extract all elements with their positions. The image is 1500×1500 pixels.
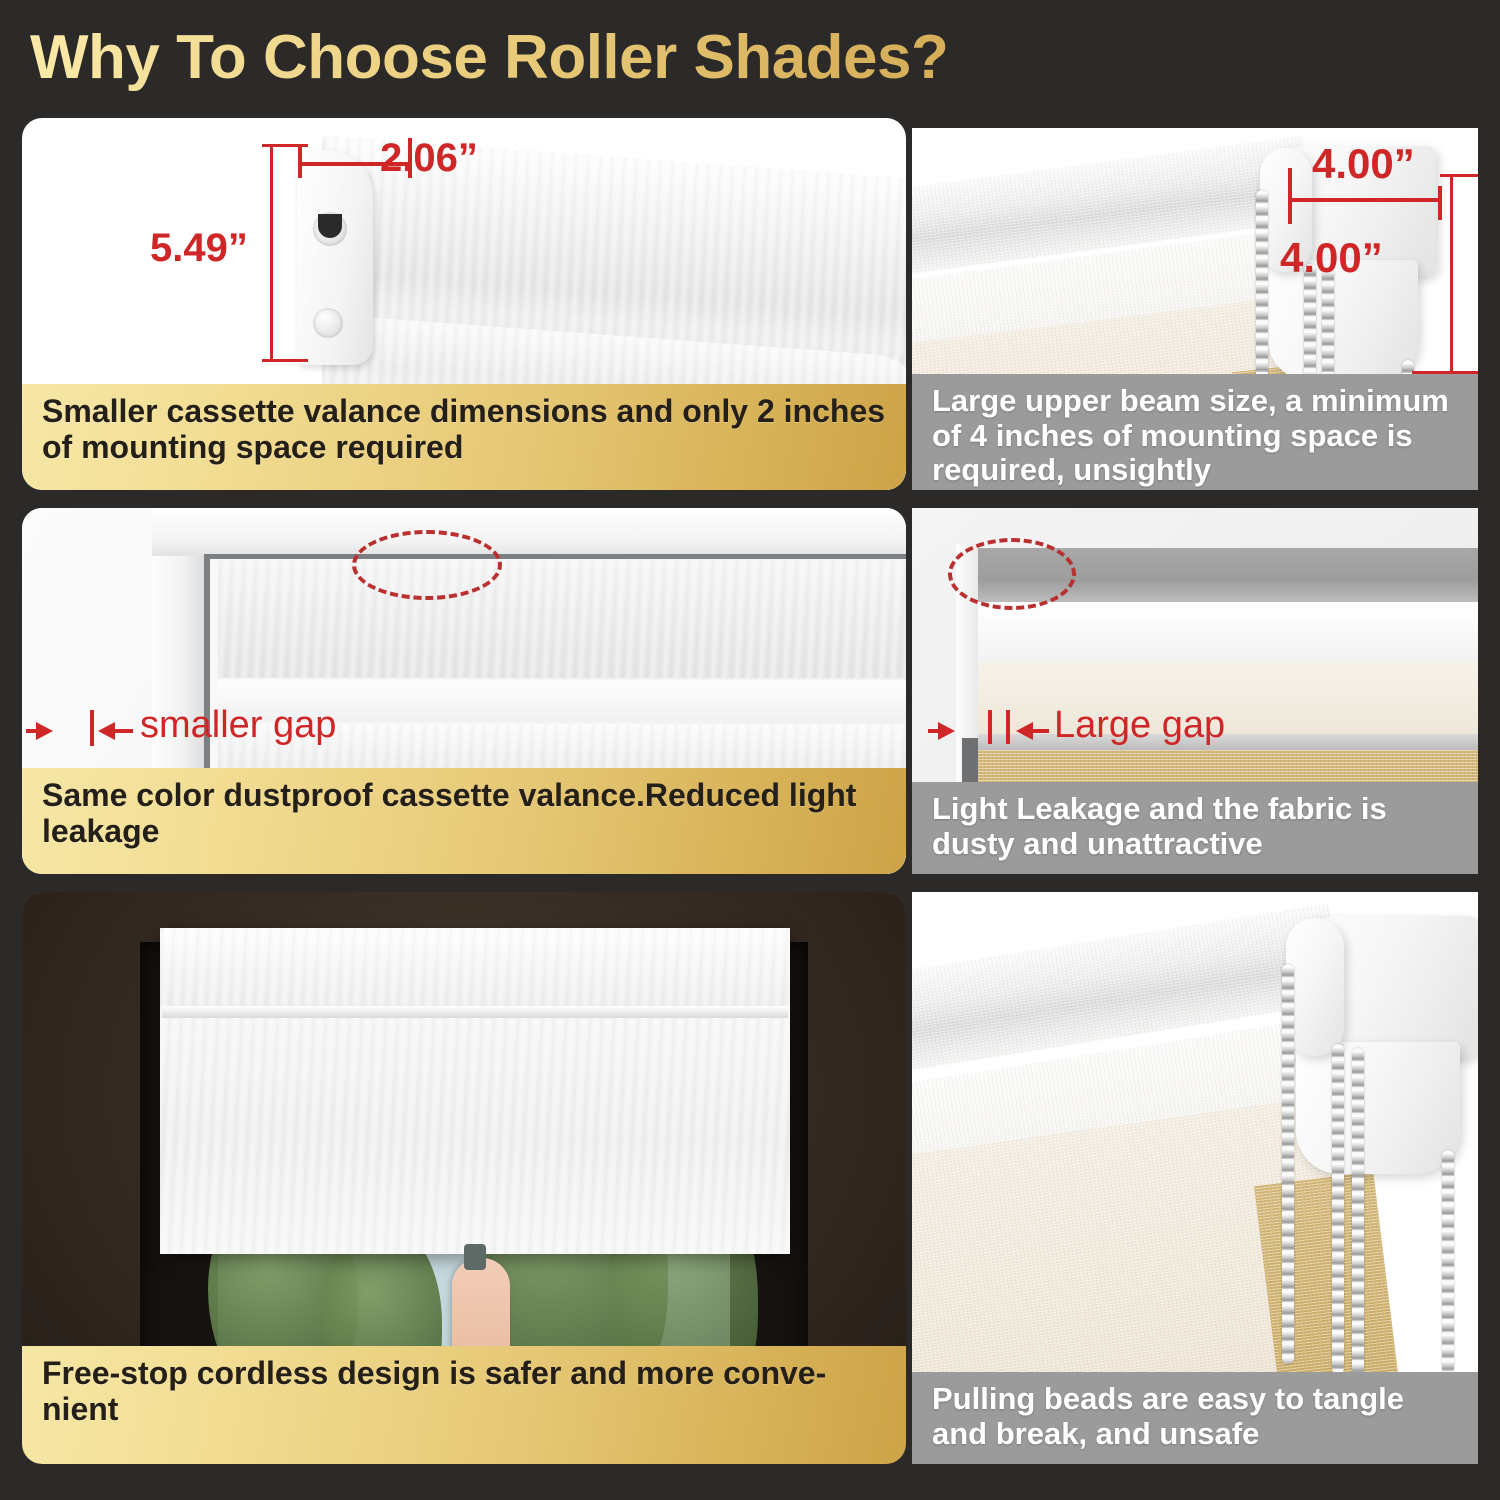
page-title: Why To Choose Roller Shades?: [30, 18, 1130, 98]
shade-pull-tab: [464, 1244, 486, 1270]
panel-1-caption: Smaller cassette valance dimensions and …: [22, 384, 906, 490]
gap-arrow-left: [1016, 722, 1033, 740]
panel-5-caption: Free-stop cordless design is safer and m…: [22, 1346, 906, 1464]
panel-3-caption: Same color dustproof cassette valance.Re…: [22, 768, 906, 874]
cassette-slot-icon: [318, 214, 342, 238]
panel-smaller-gap: smaller gap Same color dustproof cassett…: [22, 508, 906, 874]
gap-marker: [90, 710, 94, 746]
cassette-end-cap: [297, 150, 373, 365]
panel-cordless-design: Free-stop cordless design is safer and m…: [22, 892, 906, 1464]
panel-6-caption: Pulling beads are easy to tangle and bre…: [912, 1372, 1478, 1464]
beam-width-tick-left: [1288, 168, 1292, 224]
gap-arrow-right: [36, 722, 53, 740]
bead-chain-loop: [1442, 1150, 1454, 1374]
shade-valance: [160, 928, 790, 1006]
gap-marker-left: [988, 710, 992, 744]
panel-large-gap: Large gap Light Leakage and the fabric i…: [912, 508, 1478, 874]
panel-large-beam: 4.00” 4.00” Large upper beam size, a min…: [912, 128, 1478, 490]
white-fabric-band: [964, 602, 1478, 662]
gap-arrow-left: [98, 722, 115, 740]
gap-highlight-ellipse: [352, 530, 502, 600]
height-dimension-label: 5.49”: [150, 226, 248, 271]
cassette-screw-knob: [313, 308, 343, 338]
infographic-root: Why To Choose Roller Shades? 2.06” 5.49”…: [0, 0, 1500, 1500]
mounting-bracket-bottom: [1296, 1042, 1460, 1174]
width-tick-left: [298, 144, 302, 178]
panel-4-caption: Light Leakage and the fabric is dusty an…: [912, 782, 1478, 874]
panel-2-caption: Large upper beam size, a minimum of 4 in…: [912, 374, 1478, 490]
bead-chain-mid: [1332, 1044, 1344, 1374]
width-dimension-label: 2.06”: [380, 136, 478, 181]
panel-smaller-cassette: 2.06” 5.49” Smaller cassette valance dim…: [22, 118, 906, 490]
beam-width-tick-right: [1438, 186, 1442, 220]
beam-height-tick-top: [1440, 174, 1478, 177]
gap-arrow-left-tail: [115, 729, 133, 733]
gap-callout-label: Large gap: [1054, 704, 1225, 747]
shade-valance-top: [218, 560, 906, 678]
bead-chain-front: [1282, 964, 1294, 1364]
panel-pulling-beads: Pulling beads are easy to tangle and bre…: [912, 892, 1478, 1464]
beam-width-line: [1290, 198, 1442, 202]
top-gap-line: [204, 554, 906, 559]
beam-height-line: [1450, 174, 1453, 374]
gap-arrow-right: [938, 722, 955, 740]
height-dimension-line: [270, 144, 273, 362]
gap-highlight-ellipse: [948, 538, 1076, 610]
bead-chain-back: [1352, 1048, 1364, 1374]
bracket-drum: [1286, 918, 1344, 1056]
gap-callout-label: smaller gap: [140, 704, 336, 747]
height-tick-bottom: [262, 359, 308, 362]
beam-width-label: 4.00”: [1312, 140, 1415, 188]
shade-rail: [162, 1006, 788, 1018]
roller-shade-unit: [160, 928, 790, 1254]
gap-arrow-left-tail: [1033, 729, 1049, 733]
window-head-trim: [152, 508, 906, 556]
beam-height-label: 4.00”: [1280, 234, 1383, 282]
gap-marker-right: [1006, 710, 1010, 744]
